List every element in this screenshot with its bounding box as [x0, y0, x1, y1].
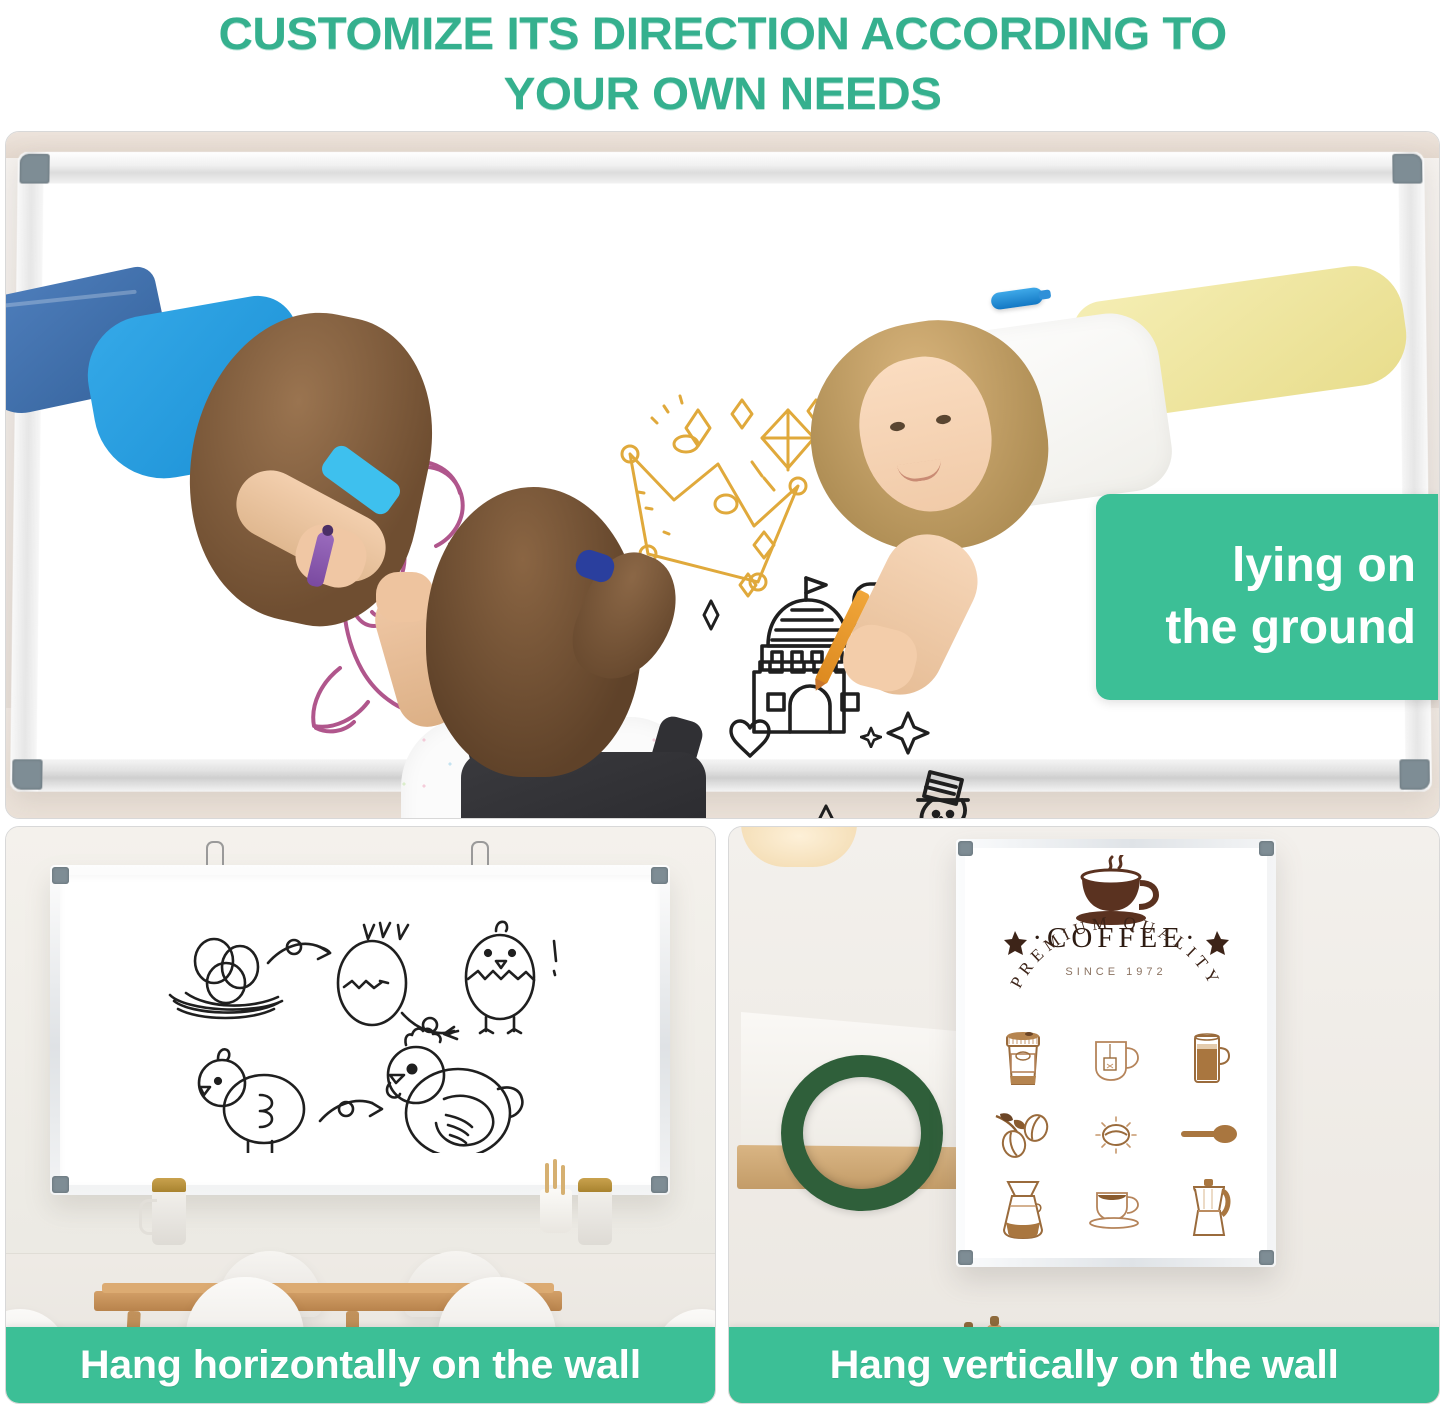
- coffee-brand-arc-text: ·COFFEE· SINCE 1972 PREMIUM QUALITY: [991, 913, 1241, 1019]
- headline-line-2: YOUR OWN NEEDS: [504, 62, 942, 122]
- pour-over-carafe-icon: [996, 1178, 1050, 1240]
- thermos-cap: [152, 1178, 186, 1192]
- doodle-sparkle-left: [811, 804, 841, 818]
- tea-mug-icon: [1090, 1034, 1142, 1084]
- scene-kitchen: ·COFFEE· SINCE 1972 PREMIUM QUALITY: [729, 827, 1439, 1403]
- doodle-chicken-lifecycle: [168, 917, 568, 1153]
- wall-floor-line: [6, 1253, 715, 1254]
- caption-text: Hang vertically on the wall: [829, 1343, 1338, 1388]
- scene-dining-room: Hang horizontally on the wall: [6, 827, 715, 1403]
- takeaway-cup-icon: [1001, 1030, 1045, 1088]
- thermos-handle: [139, 1199, 157, 1235]
- latte-glass-icon: [1187, 1030, 1231, 1088]
- thermos: [152, 1189, 186, 1245]
- moka-pot-icon: [1182, 1177, 1236, 1241]
- thermos-cap: [578, 1178, 612, 1192]
- coffee-beans-branch-icon: [992, 1110, 1054, 1158]
- corner-bracket-icon: [52, 867, 69, 884]
- doodle-heart: [728, 718, 772, 760]
- caption-text: Hang horizontally on the wall: [80, 1343, 641, 1388]
- coffee-icon-grid: [976, 1021, 1256, 1247]
- child-center-hand: [376, 572, 434, 622]
- corner-bracket-icon: [20, 154, 50, 184]
- badge-line-1: lying on: [1232, 535, 1416, 597]
- spoon-icon: [1179, 1120, 1239, 1148]
- whiteboard-horizontal: [50, 865, 670, 1195]
- corner-bracket-icon: [12, 759, 43, 789]
- caption-hang-vertically: Hang vertically on the wall: [729, 1327, 1439, 1403]
- pencil-icon: [545, 1163, 549, 1193]
- doodle-snowman: [888, 770, 1018, 818]
- badge-line-2: the ground: [1165, 597, 1416, 659]
- pencil-icon: [561, 1165, 565, 1195]
- wall-hook-icon: [471, 841, 489, 865]
- single-bean-icon: [1087, 1111, 1145, 1157]
- wreath: [781, 1055, 943, 1211]
- coffee-poster: ·COFFEE· SINCE 1972 PREMIUM QUALITY: [970, 853, 1262, 1253]
- scene-floor: lying on the ground: [6, 132, 1439, 818]
- corner-bracket-icon: [52, 1176, 69, 1193]
- doodle-sparkle-star: [885, 710, 931, 756]
- pencil-icon: [553, 1159, 557, 1189]
- board-frame-top: [18, 152, 1425, 186]
- doodle-sparkle-small: [860, 726, 882, 748]
- corner-bracket-icon: [1399, 759, 1430, 789]
- panel-hang-horizontally: Hang horizontally on the wall: [5, 826, 716, 1404]
- badge-lying-on-the-ground: lying on the ground: [1096, 494, 1438, 700]
- panel-lying-on-the-ground: lying on the ground: [5, 131, 1440, 819]
- panel-hang-vertically: ·COFFEE· SINCE 1972 PREMIUM QUALITY: [728, 826, 1440, 1404]
- headline-line-1: CUSTOMIZE ITS DIRECTION ACCORDING TO: [218, 0, 1226, 62]
- caption-hang-horizontally: Hang horizontally on the wall: [6, 1327, 715, 1403]
- corner-bracket-icon: [651, 1176, 668, 1193]
- doodle-sparkle-diamond: [696, 599, 726, 631]
- board-frame-bottom: [10, 757, 1432, 791]
- wall-hook-icon: [206, 841, 224, 865]
- corner-bracket-icon: [651, 867, 668, 884]
- corner-bracket-icon: [1392, 154, 1422, 184]
- whiteboard-vertical: ·COFFEE· SINCE 1972 PREMIUM QUALITY: [956, 839, 1276, 1267]
- pencil-cup: [540, 1189, 572, 1233]
- coffee-cup-saucer-icon: [1087, 1187, 1145, 1231]
- thermos: [578, 1189, 612, 1245]
- page-title: CUSTOMIZE ITS DIRECTION ACCORDING TO YOU…: [0, 0, 1445, 126]
- svg-text:SINCE 1972: SINCE 1972: [1065, 966, 1166, 978]
